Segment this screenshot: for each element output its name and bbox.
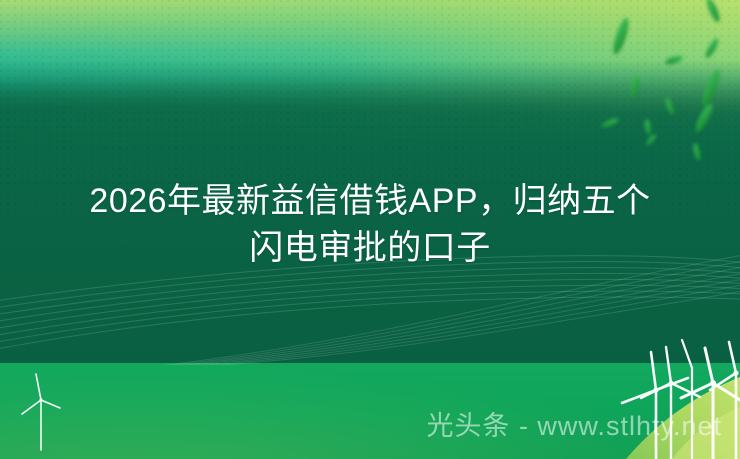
leaf-icon — [601, 117, 620, 130]
leaf-icon — [703, 37, 720, 60]
page-title: 2026年最新益信借钱APP，归纳五个 闪电审批的口子 — [0, 178, 740, 272]
leaf-group — [601, 0, 724, 161]
leaf-icon — [704, 0, 722, 24]
leaf-icon — [699, 68, 723, 109]
leaf-icon — [692, 143, 702, 162]
leaf-icon — [644, 119, 652, 136]
article-thumbnail-banner: 2026年最新益信借钱APP，归纳五个 闪电审批的口子 光头条 - www.st… — [0, 0, 740, 459]
leaf-icon — [610, 16, 631, 55]
leaf-icon — [645, 133, 658, 147]
leaf-icon — [629, 76, 640, 99]
site-watermark: 光头条 - www.stlhty.net — [0, 404, 740, 443]
leaf-icon — [664, 97, 676, 116]
leaf-icon — [664, 54, 683, 66]
